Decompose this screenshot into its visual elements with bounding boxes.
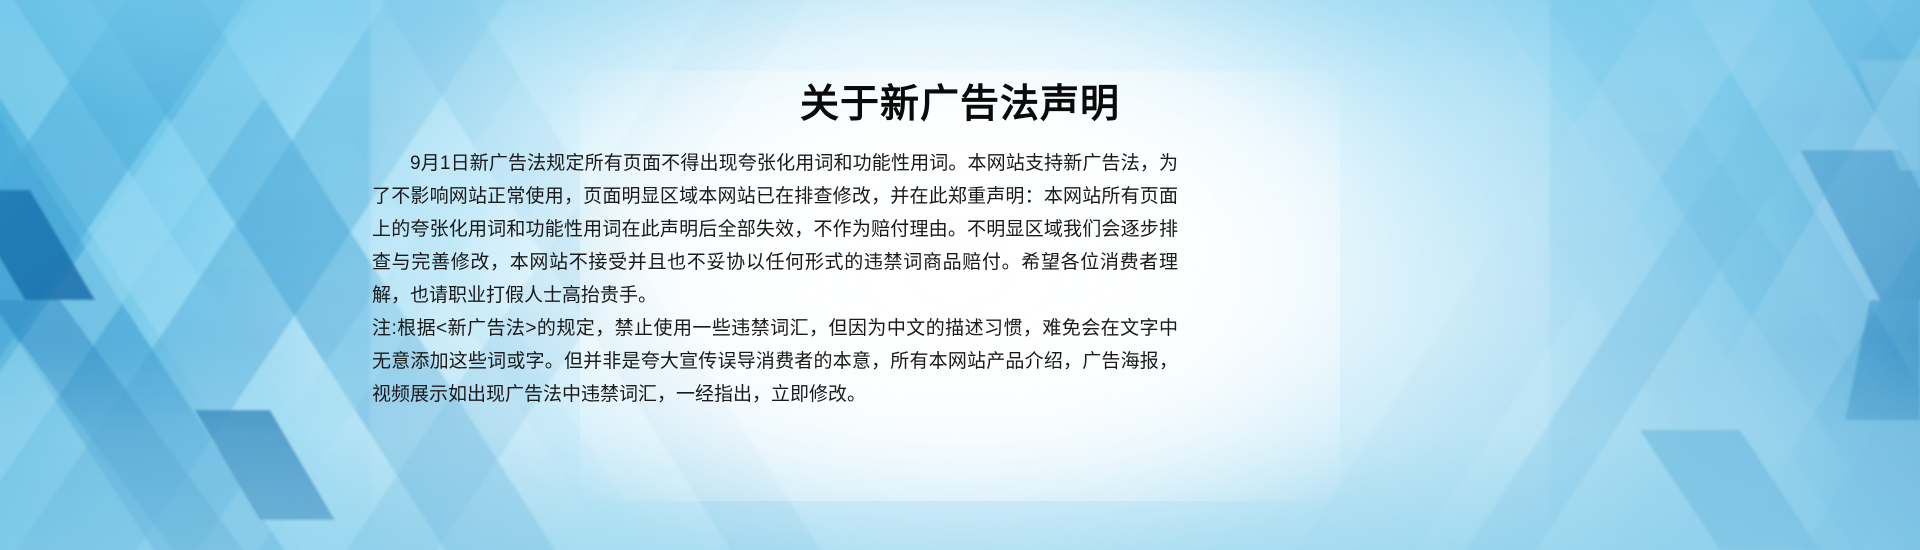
statement-content: 关于新广告法声明 9月1日新广告法规定所有页面不得出现夸张化用词和功能性用词。本… [0,0,1920,550]
advertising-law-statement-banner: 关于新广告法声明 9月1日新广告法规定所有页面不得出现夸张化用词和功能性用词。本… [0,0,1920,550]
statement-paragraph-1: 9月1日新广告法规定所有页面不得出现夸张化用词和功能性用词。本网站支持新广告法，… [372,147,1178,312]
statement-text-block: 9月1日新广告法规定所有页面不得出现夸张化用词和功能性用词。本网站支持新广告法，… [372,147,1178,411]
page-title: 关于新广告法声明 [0,82,1920,128]
statement-paragraph-2: 注:根据<新广告法>的规定，禁止使用一些违禁词汇，但因为中文的描述习惯，难免会在… [372,312,1178,411]
